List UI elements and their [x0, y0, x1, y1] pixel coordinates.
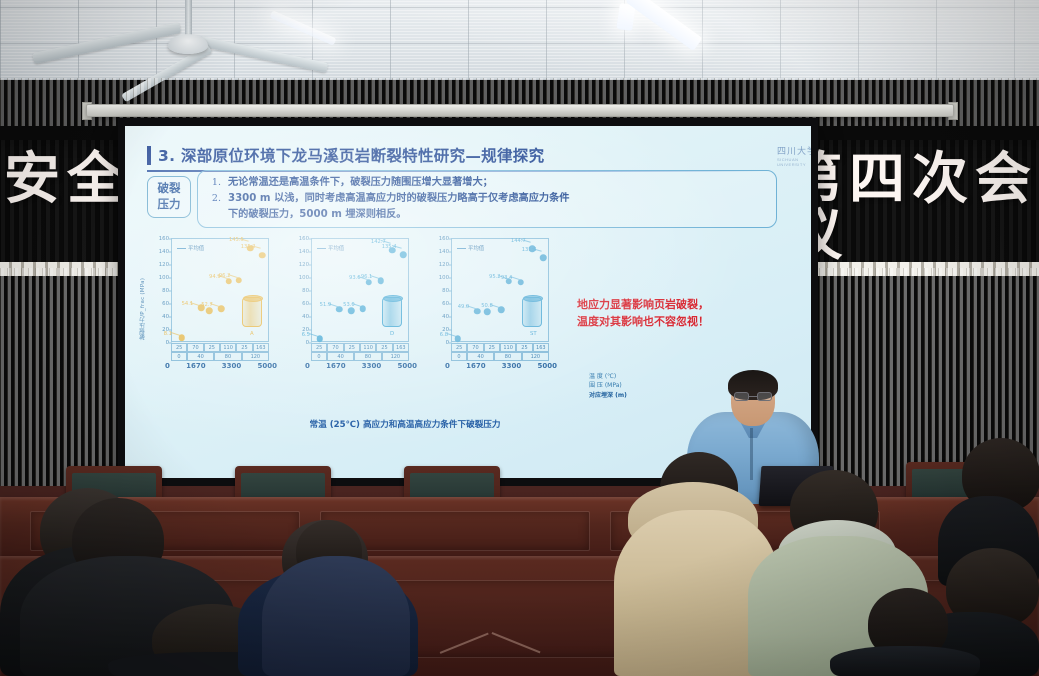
y-axis-tick-label: 80 — [442, 288, 449, 294]
x-axis-table: 2570251102516304080120 — [451, 343, 549, 361]
y-axis-tick-mark — [449, 265, 452, 266]
y-axis-tick-label: 60 — [302, 301, 309, 307]
depth-tick-label: 1670 — [466, 362, 485, 370]
bullet-text: 无论常温还是高温条件下，破裂压力随围压增大显著增大； — [228, 176, 493, 190]
banner-text-right: 第四次会议 — [786, 152, 1039, 264]
depth-tick-label: 3300 — [362, 362, 381, 370]
y-axis-tick-mark — [449, 304, 452, 305]
y-axis-tick-mark — [169, 265, 172, 266]
y-axis-tick-label: 140 — [159, 249, 169, 255]
bullet-number: 1. — [208, 176, 221, 188]
bullet-list-box: 1. 无论常温还是高温条件下，破裂压力随围压增大显著增大； 2. 3300 m … — [197, 170, 777, 228]
chart-legend: 平均值 — [177, 244, 204, 252]
table-cell-temperature: 163 — [393, 343, 409, 352]
scatter-chart-panel-d: 020406080100120140160平均值D6.551.953.093.6… — [281, 236, 419, 406]
y-axis-tick-label: 40 — [442, 314, 449, 320]
label-leader-line — [447, 333, 457, 337]
data-point — [540, 254, 547, 261]
table-cell-temperature: 25 — [171, 343, 187, 352]
y-axis-tick-label: 100 — [439, 275, 449, 281]
axis-key-label: 温 度 — [589, 373, 603, 380]
data-point — [259, 252, 266, 259]
table-cell-temperature: 110 — [220, 343, 236, 352]
table-cell-pressure: 0 — [451, 352, 467, 361]
data-point — [206, 307, 213, 314]
bullet-text: 3300 m 以浅，同时考虑高温高应力时的破裂压力略高于仅考虑高应力条件 — [228, 192, 570, 206]
y-axis-tick-label: 140 — [299, 249, 309, 255]
table-cell-temperature: 25 — [451, 343, 467, 352]
data-point — [517, 279, 524, 286]
table-cell-pressure: 0 — [171, 352, 187, 361]
table-row: 04080120 — [451, 352, 549, 361]
table-cell-temperature: 70 — [187, 343, 203, 352]
depth-tick-label: 3300 — [502, 362, 521, 370]
y-axis-tick-mark — [449, 291, 452, 292]
table-cell-temperature: 110 — [360, 343, 376, 352]
slide-title-row: 3. 深部原位环境下龙马溪页岩断裂特性研究—规律探究 四川大学 SICHUAN … — [147, 144, 787, 170]
axis-key-unit: (℃) — [605, 373, 616, 380]
table-cell-temperature: 163 — [533, 343, 549, 352]
scatter-chart-panel-st: 020406080100120140160平均值ST6.849.050.895.… — [421, 236, 559, 406]
y-axis-tick-mark — [309, 304, 312, 305]
depth-tick-label: 1670 — [326, 362, 345, 370]
red-annotation: 地应力显著影响页岩破裂， 温度对其影响也不容忽视！ — [577, 296, 757, 330]
label-leader-line — [309, 333, 319, 337]
panel-label: A — [250, 331, 254, 337]
table-cell-temperature: 25 — [516, 343, 532, 352]
y-axis-tick-label: 120 — [439, 262, 449, 268]
y-axis-tick-label: 60 — [442, 301, 449, 307]
data-point — [484, 309, 491, 316]
presenter-shirt-placket — [750, 428, 753, 480]
scatter-chart-panel-a: 破裂压力/P_frac (MPa)020406080100120140160平均… — [141, 236, 279, 406]
table-cell-pressure: 40 — [467, 352, 494, 361]
y-axis-tick-label: 100 — [159, 275, 169, 281]
specimen-cylinder-icon — [522, 297, 542, 327]
y-axis-tick-mark — [309, 265, 312, 266]
tag-line-2: 压力 — [158, 197, 181, 213]
list-item: 1. 无论常温还是高温条件下，破裂压力随围压增大显著增大； — [208, 176, 768, 190]
x-axis-table: 2570251102516304080120 — [311, 343, 409, 361]
slide-caption: 常温 (25℃) 高应力和高温高应力条件下破裂压力 — [195, 418, 615, 430]
table-cell-temperature: 25 — [344, 343, 360, 352]
y-axis-tick-mark — [169, 239, 172, 240]
data-point — [348, 307, 355, 314]
y-axis-tick-mark — [169, 252, 172, 253]
y-axis-tick-label: 160 — [299, 236, 309, 242]
red-annotation-line-2: 温度对其影响也不容忽视！ — [577, 313, 757, 330]
table-cell-pressure: 40 — [187, 352, 214, 361]
table-cell-temperature: 25 — [204, 343, 220, 352]
depth-tick-label: 1670 — [186, 362, 205, 370]
ceiling-light-gradient — [0, 0, 1039, 80]
bullet-number — [208, 208, 221, 209]
plot-area: 020406080100120140160平均值D6.551.953.093.6… — [311, 238, 409, 342]
y-axis-tick-mark — [449, 252, 452, 253]
panel-label: ST — [530, 331, 537, 337]
ceiling-fan-rod — [185, 0, 192, 36]
table-cell-pressure: 120 — [382, 352, 409, 361]
y-axis-tick-mark — [169, 278, 172, 279]
y-axis-tick-mark — [169, 317, 172, 318]
specimen-cylinder-icon — [382, 297, 402, 327]
title-accent-bar — [147, 146, 151, 165]
data-point — [235, 277, 242, 284]
table-cell-pressure: 0 — [311, 352, 327, 361]
table-row: 25702511025163 — [451, 343, 549, 352]
table-row: 25702511025163 — [171, 343, 269, 352]
y-axis-tick-label: 160 — [159, 236, 169, 242]
y-axis-tick-mark — [449, 239, 452, 240]
table-cell-pressure: 80 — [494, 352, 521, 361]
y-axis-tick-mark — [309, 278, 312, 279]
table-cell-pressure: 120 — [242, 352, 269, 361]
ceiling-fan-hub — [168, 34, 208, 54]
university-logo: 四川大学 SICHUAN UNIVERSITY — [777, 144, 811, 170]
x-axis-depth-labels: 0167033005000 — [165, 362, 277, 370]
tag-line-1: 破裂 — [158, 181, 181, 197]
axis-key-pressure: 围 压 (MPa) — [589, 381, 627, 390]
axis-key-unit: (m) — [615, 392, 627, 399]
table-cell-temperature: 25 — [484, 343, 500, 352]
label-leader-line — [171, 332, 181, 336]
data-point — [400, 252, 407, 259]
y-axis-tick-mark — [309, 330, 312, 331]
y-axis-tick-mark — [449, 330, 452, 331]
depth-tick-label: 5000 — [538, 362, 557, 370]
y-axis-tick-mark — [309, 291, 312, 292]
y-axis-label: 破裂压力/P_frac (MPa) — [139, 254, 151, 340]
table-cell-pressure: 40 — [327, 352, 354, 361]
depth-tick-label: 0 — [305, 362, 310, 370]
table-cell-pressure: 80 — [354, 352, 381, 361]
table-cell-temperature: 25 — [376, 343, 392, 352]
ceiling — [0, 0, 1039, 80]
bullet-text: 下的破裂压力，5000 m 埋深则相反。 — [228, 208, 407, 222]
table-cell-temperature: 163 — [253, 343, 269, 352]
chart-legend: 平均值 — [317, 244, 344, 252]
depth-tick-label: 0 — [165, 362, 170, 370]
depth-tick-label: 5000 — [398, 362, 417, 370]
axis-key-temperature: 温 度 (℃) — [589, 372, 627, 381]
university-logo-text: 四川大学 — [777, 144, 811, 157]
table-cell-pressure: 120 — [522, 352, 549, 361]
y-axis-tick-label: 40 — [162, 314, 169, 320]
depth-tick-label: 0 — [445, 362, 450, 370]
y-axis-tick-label: 100 — [299, 275, 309, 281]
presenter-glasses — [734, 392, 772, 401]
y-axis-tick-mark — [449, 278, 452, 279]
table-cell-temperature: 25 — [311, 343, 327, 352]
y-axis-tick-label: 60 — [162, 301, 169, 307]
axis-key-legend: 温 度 (℃) 围 压 (MPa) 对应埋深 (m) — [589, 372, 627, 400]
y-axis-tick-mark — [449, 317, 452, 318]
table-cell-pressure: 80 — [214, 352, 241, 361]
y-axis-tick-label: 80 — [302, 288, 309, 294]
y-axis-tick-mark — [309, 317, 312, 318]
y-axis-tick-mark — [169, 304, 172, 305]
meeting-room-photo: 安全科 第四次会议 3. 深部原位环境下龙马溪页岩断裂特性研究—规律探究 四川大… — [0, 0, 1039, 676]
x-axis-depth-labels: 0167033005000 — [445, 362, 557, 370]
axis-key-label: 对应埋深 — [589, 392, 613, 399]
y-axis-tick-mark — [169, 291, 172, 292]
y-axis-tick-label: 120 — [299, 262, 309, 268]
table-row: 25702511025163 — [311, 343, 409, 352]
red-annotation-line-1: 地应力显著影响页岩破裂， — [577, 296, 757, 313]
table-cell-temperature: 110 — [500, 343, 516, 352]
plot-area: 020406080100120140160平均值A8.154.152.794.9… — [171, 238, 269, 342]
y-axis-tick-mark — [309, 252, 312, 253]
depth-tick-label: 3300 — [222, 362, 241, 370]
page-title: 3. 深部原位环境下龙马溪页岩断裂特性研究—规律探究 — [158, 144, 544, 166]
panel-label: D — [390, 331, 394, 337]
chart-legend: 平均值 — [457, 244, 484, 252]
projection-screen-rail — [86, 104, 954, 117]
table-cell-temperature: 25 — [236, 343, 252, 352]
plot-area: 020406080100120140160平均值ST6.849.050.895.… — [451, 238, 549, 342]
y-axis-tick-label: 160 — [439, 236, 449, 242]
table-cell-temperature: 70 — [467, 343, 483, 352]
axis-key-depth: 对应埋深 (m) — [589, 391, 627, 400]
y-axis-tick-label: 140 — [439, 249, 449, 255]
depth-tick-label: 5000 — [258, 362, 277, 370]
x-axis-depth-labels: 0167033005000 — [305, 362, 417, 370]
callout-tag-fracture-pressure: 破裂 压力 — [147, 176, 191, 218]
university-logo-subtext: SICHUAN UNIVERSITY — [777, 157, 811, 167]
x-axis-table: 2570251102516304080120 — [171, 343, 269, 361]
y-axis-tick-label: 80 — [162, 288, 169, 294]
table-cell-temperature: 70 — [327, 343, 343, 352]
y-axis-tick-label: 40 — [302, 314, 309, 320]
specimen-cylinder-icon — [242, 297, 262, 327]
y-axis-tick-mark — [309, 239, 312, 240]
axis-key-label: 围 压 — [589, 382, 603, 389]
axis-key-unit: (MPa) — [605, 382, 622, 389]
list-item: 下的破裂压力，5000 m 埋深则相反。 — [208, 208, 768, 222]
bullet-number: 2. — [208, 192, 221, 204]
list-item: 2. 3300 m 以浅，同时考虑高温高应力时的破裂压力略高于仅考虑高应力条件 — [208, 192, 768, 206]
y-axis-tick-label: 120 — [159, 262, 169, 268]
table-row: 04080120 — [311, 352, 409, 361]
table-row: 04080120 — [171, 352, 269, 361]
